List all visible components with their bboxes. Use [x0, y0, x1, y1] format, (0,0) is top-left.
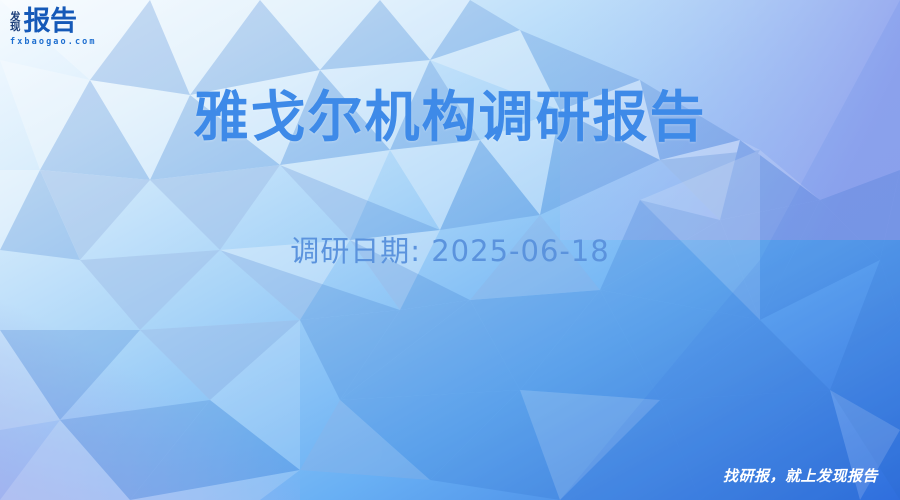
footer-tagline: 找研报，就上发现报告	[723, 465, 878, 486]
report-cover-slide: 发 现 报告 fxbaogao.com 雅戈尔机构调研报告 调研日期: 2025…	[0, 0, 900, 500]
fxbaogao-logo[interactable]: 发 现 报告 fxbaogao.com	[10, 8, 170, 47]
survey-date-text: 调研日期: 2025-06-18	[0, 228, 900, 270]
logo-url-text: fxbaogao.com	[10, 37, 170, 47]
logo-prefix-bottom: 现	[10, 22, 21, 33]
logo-prefix-stack: 发 现	[10, 12, 21, 35]
page-title: 雅戈尔机构调研报告	[0, 86, 900, 149]
logo-wordmark: 发 现 报告	[10, 8, 170, 35]
subtitle-block: 调研日期: 2025-06-18	[0, 228, 900, 270]
title-block: 雅戈尔机构调研报告	[0, 86, 900, 149]
logo-main-text: 报告	[24, 8, 77, 35]
